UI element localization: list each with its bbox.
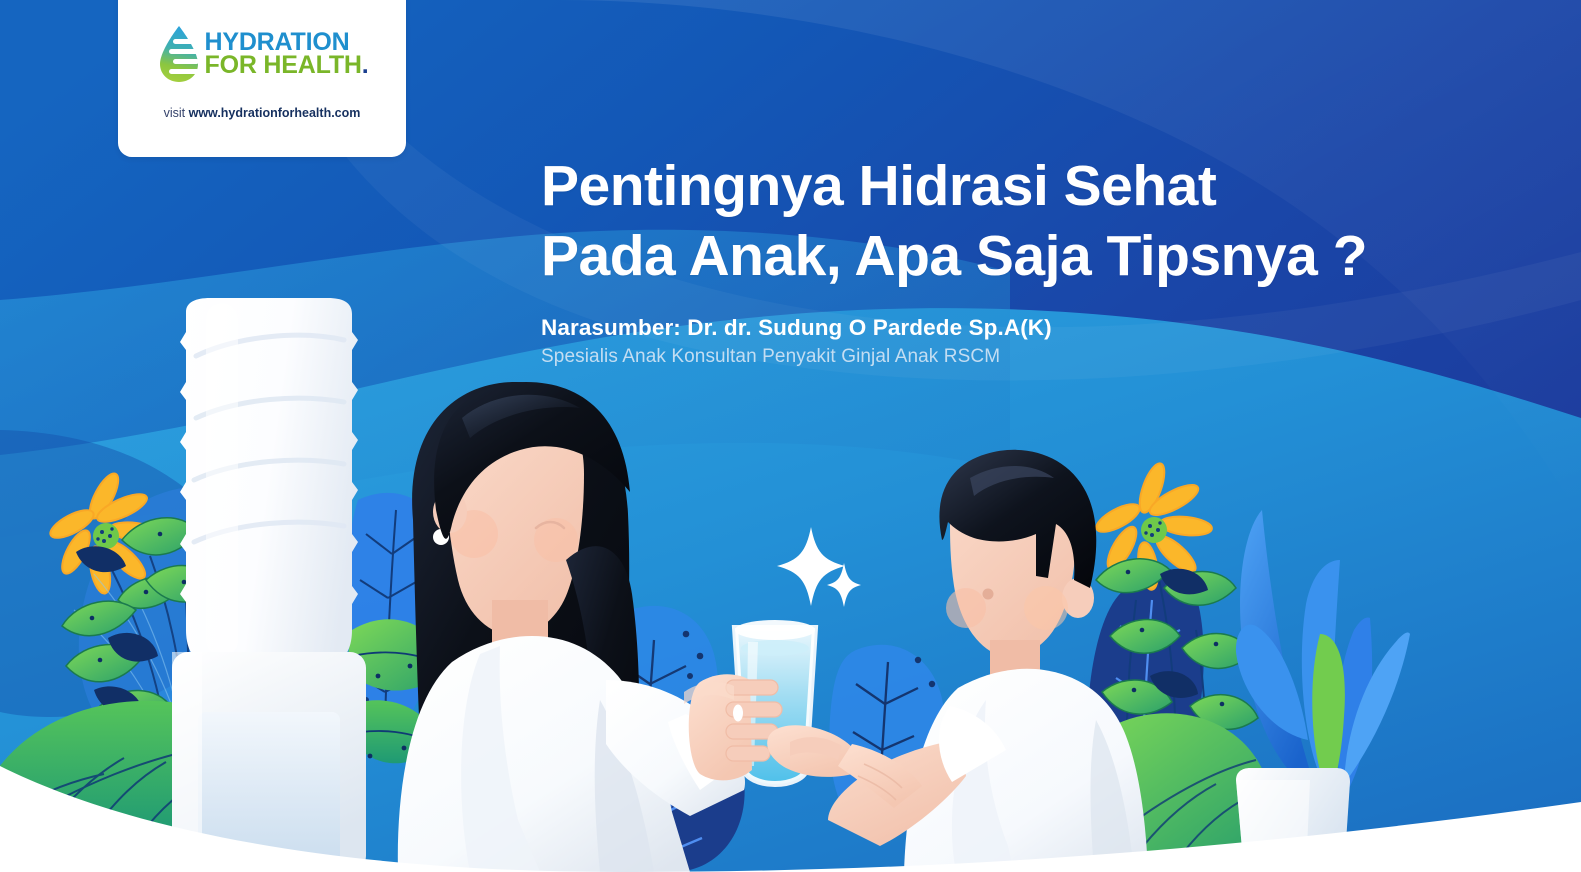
logo-wordmark-line2: FOR HEALTH. <box>205 54 369 77</box>
logo-card[interactable]: HYDRATION FOR HEALTH. visit www.hydratio… <box>118 0 406 157</box>
speaker-name: Narasumber: Dr. dr. Sudung O Pardede Sp.… <box>541 315 1501 341</box>
hydration-for-health-logo: HYDRATION FOR HEALTH. <box>156 24 369 84</box>
logo-visit-url[interactable]: visit www.hydrationforhealth.com <box>164 106 361 120</box>
visit-url-text: www.hydrationforhealth.com <box>189 106 361 120</box>
headline-line-1: Pentingnya Hidrasi Sehat <box>541 152 1501 222</box>
speaker-role: Spesialis Anak Konsultan Penyakit Ginjal… <box>541 346 1501 368</box>
water-droplet-icon <box>156 24 202 84</box>
headline-line-2: Pada Anak, Apa Saja Tipsnya ? <box>541 222 1501 292</box>
white-wave-shape <box>0 766 1581 872</box>
logo-wordmark: HYDRATION FOR HEALTH. <box>205 31 369 77</box>
hydration-banner: HYDRATION FOR HEALTH. visit www.hydratio… <box>0 0 1581 872</box>
visit-prefix: visit <box>164 106 189 120</box>
headline-block: Pentingnya Hidrasi Sehat Pada Anak, Apa … <box>541 152 1501 368</box>
